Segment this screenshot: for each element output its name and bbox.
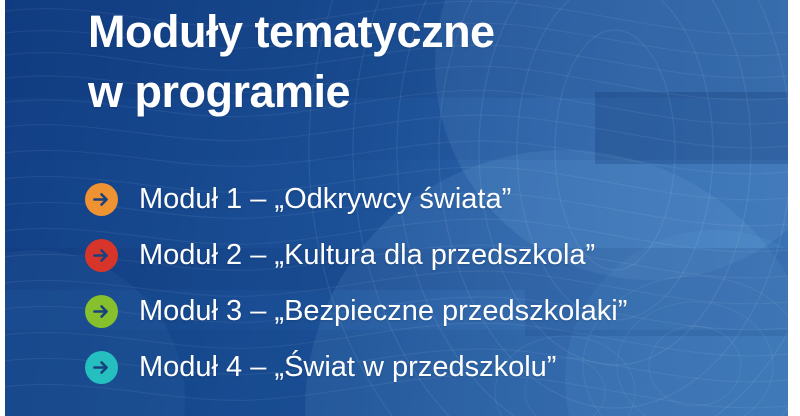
list-item[interactable]: Moduł 2 – „Kultura dla przedszkola” (85, 227, 627, 283)
list-item[interactable]: Moduł 3 – „Bezpieczne przedszkolaki” (85, 283, 627, 339)
arrow-right-circle-icon (85, 351, 118, 384)
list-item-label: Moduł 4 – „Świat w przedszkolu” (139, 351, 556, 384)
list-item-label: Moduł 2 – „Kultura dla przedszkola” (139, 239, 595, 272)
presentation-slide: Moduły tematyczne w programie Moduł 1 – … (0, 0, 800, 416)
arrow-right-circle-icon (85, 295, 118, 328)
arrow-right-circle-icon (85, 239, 118, 272)
module-list: Moduł 1 – „Odkrywcy świata” Moduł 2 – „K… (85, 171, 627, 395)
list-item-label: Moduł 3 – „Bezpieczne przedszkolaki” (139, 295, 627, 328)
arrow-right-circle-icon (85, 183, 118, 216)
background-block (595, 92, 788, 164)
list-item[interactable]: Moduł 1 – „Odkrywcy świata” (85, 171, 627, 227)
slide-background: Moduły tematyczne w programie Moduł 1 – … (5, 0, 788, 416)
page-title: Moduły tematyczne w programie (88, 2, 495, 122)
list-item[interactable]: Moduł 4 – „Świat w przedszkolu” (85, 339, 627, 395)
list-item-label: Moduł 1 – „Odkrywcy świata” (139, 183, 511, 216)
